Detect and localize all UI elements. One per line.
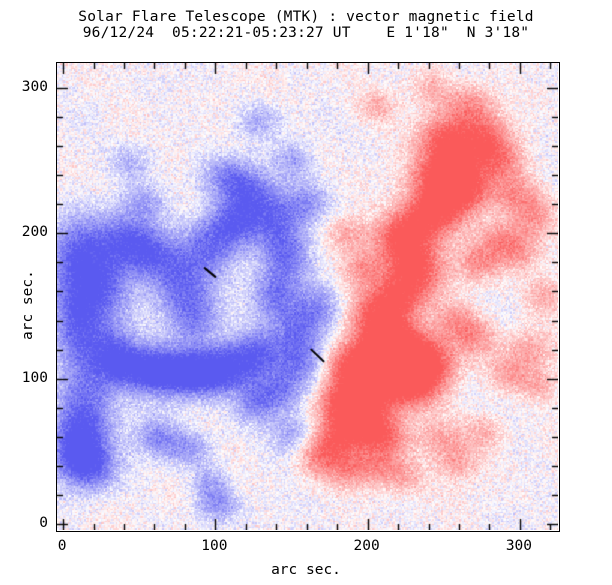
magnetogram-figure: Solar Flare Telescope (MTK) : vector mag…	[0, 0, 612, 585]
y-tick-label: 300	[22, 79, 48, 95]
x-tick-label: 100	[201, 538, 227, 554]
y-tick-label: 0	[39, 515, 48, 531]
figure-title-block: Solar Flare Telescope (MTK) : vector mag…	[0, 10, 612, 41]
x-tick-label: 200	[354, 538, 380, 554]
page-title: Solar Flare Telescope (MTK) : vector mag…	[0, 10, 612, 26]
y-axis-label: arc sec.	[20, 270, 36, 340]
x-axis-label: arc sec.	[0, 562, 612, 578]
y-tick-label: 100	[22, 370, 48, 386]
magnetogram-image	[57, 63, 558, 530]
plot-frame	[56, 62, 560, 532]
observation-subtitle: 96/12/24 05:22:21-05:23:27 UT E 1'18" N …	[0, 26, 612, 42]
y-tick-label: 200	[22, 224, 48, 240]
x-tick-label: 300	[506, 538, 532, 554]
x-tick-label: 0	[58, 538, 67, 554]
